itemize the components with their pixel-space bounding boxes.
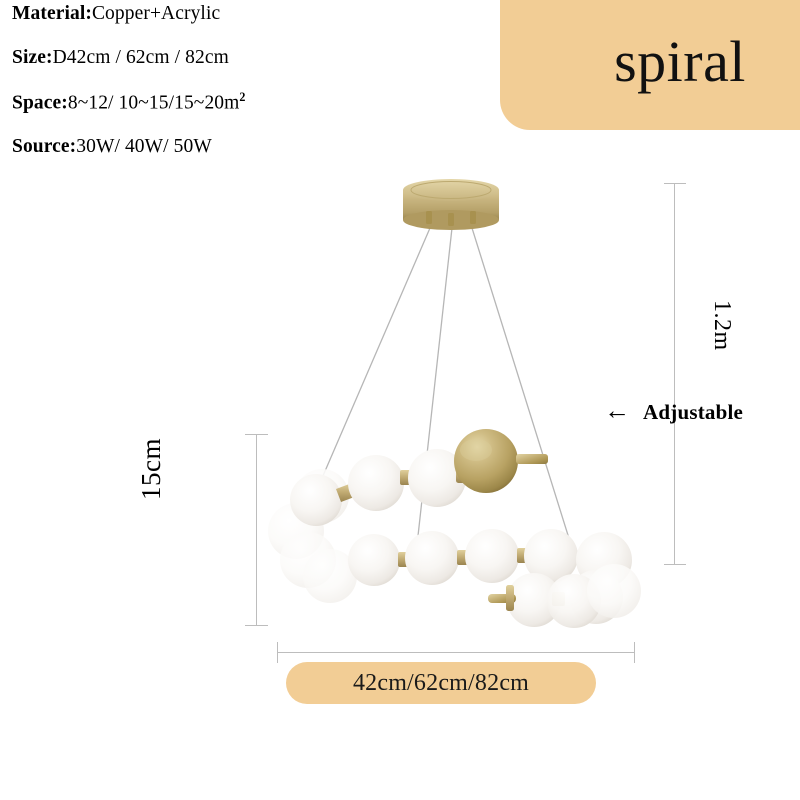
- spec-label-size: Size:: [12, 47, 53, 68]
- spec-label-material: Material:: [12, 3, 92, 24]
- spec-value-size: D42cm / 62cm / 82cm: [53, 47, 229, 68]
- spec-value-space: 8~12/ 10~15/15~20m: [68, 93, 240, 114]
- ceiling-canopy: [403, 179, 499, 230]
- spec-value-material: Copper+Acrylic: [92, 3, 220, 24]
- dimension-cap-diameter-left: [277, 642, 278, 663]
- dimension-line-diameter: [277, 652, 635, 653]
- suspension-cables: [316, 228, 572, 548]
- spec-label-space: Space:: [12, 93, 68, 114]
- dimension-label-drop: 1.2m: [708, 300, 735, 351]
- dimension-line-drop: [674, 183, 675, 565]
- sphere-cluster-back: [268, 469, 357, 603]
- dimension-cap-drop-bottom: [664, 564, 686, 565]
- spec-label-source: Source:: [12, 136, 76, 157]
- spec-row-space: Space:8~12/ 10~15/15~20m2: [12, 91, 482, 113]
- dimension-label-height: 15cm: [136, 438, 167, 500]
- arrow-left-icon: ←: [604, 398, 630, 424]
- sphere-ring-front: [348, 529, 632, 624]
- spec-value-source: 30W/ 40W/ 50W: [76, 136, 212, 157]
- dimension-cap-height-top: [245, 434, 268, 435]
- spiral-end-pin: [488, 573, 565, 627]
- spec-row-source: Source:30W/ 40W/ 50W: [12, 137, 482, 157]
- sphere-cluster-right: [547, 564, 641, 628]
- spec-value-space-superscript: 2: [239, 90, 245, 104]
- dimension-cap-height-bottom: [245, 625, 268, 626]
- diameter-badge: 42cm/62cm/82cm: [286, 662, 596, 704]
- brass-accent-sphere: [454, 429, 548, 493]
- dimension-cap-diameter-right: [634, 642, 635, 663]
- style-name-label: spiral: [614, 33, 746, 91]
- diameter-label: 42cm/62cm/82cm: [353, 670, 529, 697]
- specification-list: Material:Copper+Acrylic Size:D42cm / 62c…: [12, 4, 482, 181]
- adjustable-label: Adjustable: [643, 400, 743, 425]
- dimension-line-height: [256, 434, 257, 626]
- spec-row-material: Material:Copper+Acrylic: [12, 4, 482, 24]
- spec-row-size: Size:D42cm / 62cm / 82cm: [12, 48, 482, 68]
- style-name-badge: spiral: [500, 0, 800, 130]
- dimension-cap-drop-top: [664, 183, 686, 184]
- sphere-ring-upper: [290, 449, 466, 526]
- adjustable-callout: ← Adjustable: [604, 400, 743, 425]
